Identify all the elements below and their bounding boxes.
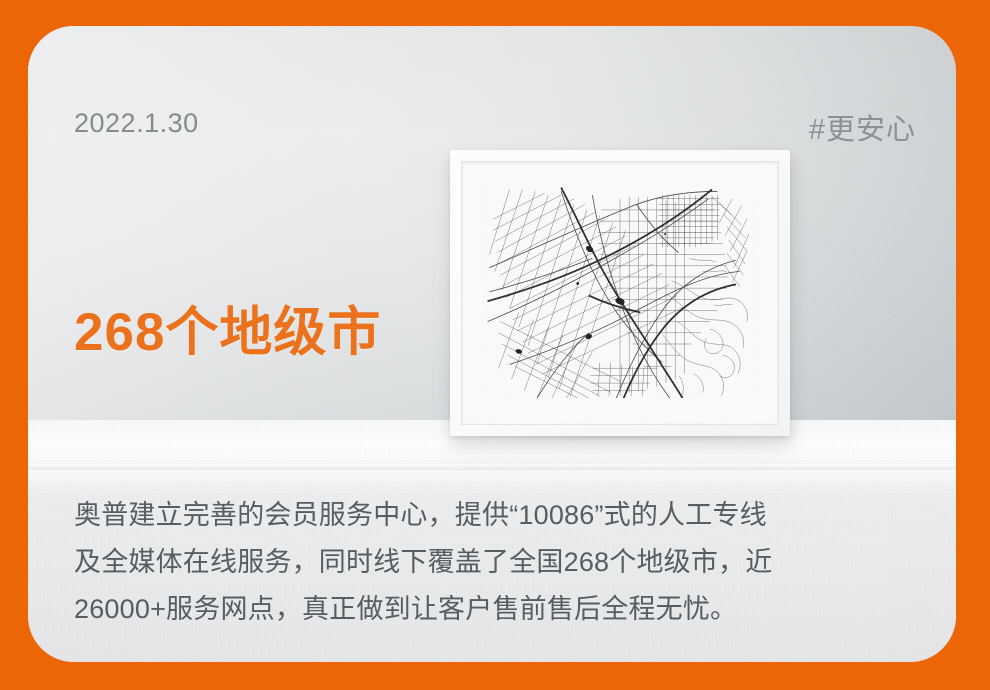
page-title: 268个地级市 — [74, 290, 381, 366]
hashtag-label: #更安心 — [809, 106, 916, 148]
body-line-3: 26000+服务网点，真正做到让客户售前售后全程无忧。 — [74, 586, 914, 633]
poster-canvas: 2022.1.30 #更安心 268个地级市 — [0, 0, 990, 690]
poster-card: 2022.1.30 #更安心 268个地级市 — [28, 26, 956, 662]
date-label: 2022.1.30 — [74, 108, 199, 139]
body-line-2: 及全媒体在线服务，同时线下覆盖了全国268个地级市，近 — [74, 539, 914, 586]
shelf-lip — [28, 464, 956, 470]
street-map-artwork — [482, 182, 758, 398]
frame-mat — [482, 182, 758, 398]
body-paragraph: 奥普建立完善的会员服务中心，提供“10086”式的人工专线 及全媒体在线服务，同… — [74, 492, 914, 633]
frame-bevel — [461, 161, 779, 425]
body-line-1: 奥普建立完善的会员服务中心，提供“10086”式的人工专线 — [74, 492, 914, 539]
picture-frame — [450, 150, 790, 436]
